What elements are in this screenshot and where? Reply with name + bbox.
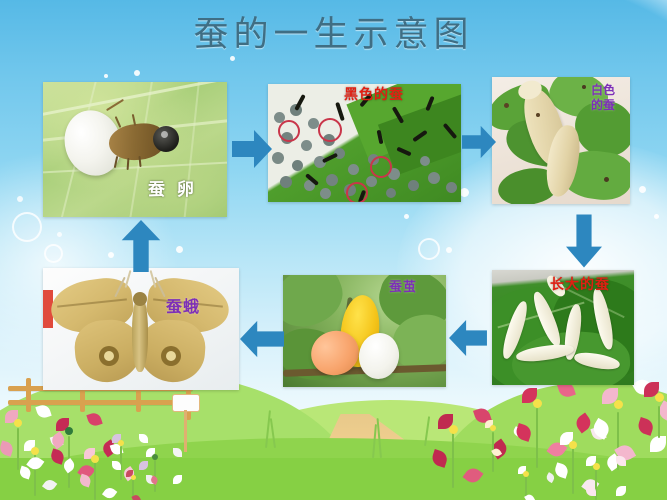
arrow-egg-to-hatching bbox=[232, 130, 272, 168]
arrow-grown-to-cocoon bbox=[449, 320, 487, 356]
stage-label-egg: 蚕 卵 bbox=[148, 182, 197, 200]
stage-card-hatching[interactable]: 黑色的蚕 bbox=[268, 84, 461, 202]
fence-post-stake bbox=[184, 410, 187, 452]
slide-canvas: 蚕的一生示意图 蚕 卵 bbox=[0, 0, 667, 500]
page-title: 蚕的一生示意图 bbox=[0, 6, 667, 57]
stage-card-white-larva[interactable]: 白色的蚕 bbox=[492, 77, 630, 204]
moth-body bbox=[132, 296, 148, 372]
moth-head bbox=[133, 292, 147, 306]
stage-card-cocoon[interactable]: 蚕茧 bbox=[283, 275, 446, 387]
photo-egg bbox=[43, 82, 227, 217]
stage-label-moth: 蚕蛾 bbox=[166, 299, 200, 316]
stage-label-grown-larva: 长大的蚕 bbox=[550, 278, 610, 293]
arrow-cocoon-to-moth bbox=[240, 320, 284, 358]
stage-card-grown-larva[interactable]: 长大的蚕 bbox=[492, 270, 634, 385]
stage-card-moth[interactable]: 蚕蛾 bbox=[43, 268, 239, 390]
stage-label-white-larva: 白色的蚕 bbox=[591, 83, 617, 113]
arrow-hatching-to-white bbox=[462, 125, 496, 159]
photo-moth bbox=[43, 268, 239, 390]
arrow-white-to-grown bbox=[566, 214, 602, 268]
stage-card-egg[interactable]: 蚕 卵 bbox=[43, 82, 227, 217]
photo-cocoon bbox=[283, 275, 446, 387]
stage-label-hatching: 黑色的蚕 bbox=[344, 88, 404, 103]
arrow-moth-to-egg bbox=[121, 220, 161, 272]
larva-head bbox=[153, 126, 179, 152]
stage-label-cocoon: 蚕茧 bbox=[389, 281, 417, 295]
